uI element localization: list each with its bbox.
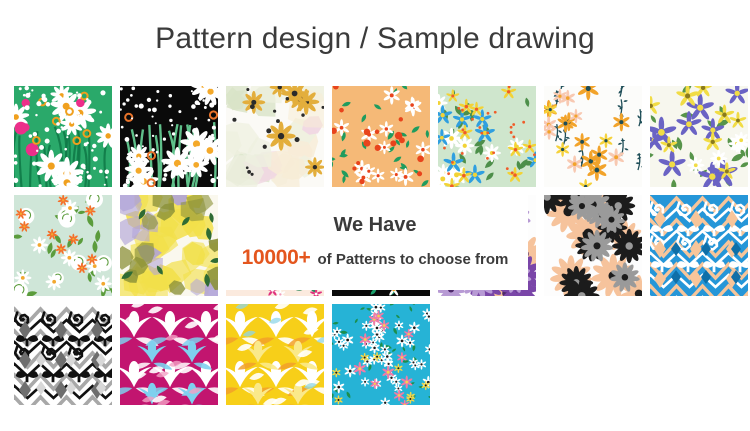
pattern-tile-purple-pansy-floral[interactable]	[650, 86, 748, 187]
promo-overlay: We Have 10000+ of Patterns to choose fro…	[222, 194, 528, 290]
page-title: Pattern design / Sample drawing	[0, 22, 750, 56]
pattern-tile-white-orange-sprig-floral[interactable]	[544, 86, 642, 187]
pattern-tile-yellow-violet-watercolor[interactable]	[120, 195, 218, 296]
pattern-tile-black-ikat-tribal[interactable]	[14, 304, 112, 405]
promo-subline: 10000+ of Patterns to choose from	[242, 246, 509, 270]
promo-tail-text: of Patterns to choose from	[318, 251, 509, 268]
pattern-tile-magenta-swirl-damask[interactable]	[120, 304, 218, 405]
pattern-tile-yellow-swirl-damask[interactable]	[226, 304, 324, 405]
promo-headline: We Have	[333, 214, 416, 237]
pattern-tile-orange-ditsy-floral[interactable]	[332, 86, 430, 187]
pattern-tile-black-peach-daisy[interactable]	[544, 195, 642, 296]
pattern-tile-black-daisy-floral[interactable]	[120, 86, 218, 187]
pattern-tile-mint-meadow-floral[interactable]	[438, 86, 536, 187]
promo-count: 10000+	[242, 246, 311, 270]
pattern-tile-mint-rose-floral[interactable]	[14, 195, 112, 296]
pattern-tile-white-watercolor-floral[interactable]	[226, 86, 324, 187]
pattern-tile-green-daisy-floral[interactable]	[14, 86, 112, 187]
pattern-tile-blue-ikat-tribal[interactable]	[650, 195, 748, 296]
pattern-tile-turquoise-ditsy-floral[interactable]	[332, 304, 430, 405]
